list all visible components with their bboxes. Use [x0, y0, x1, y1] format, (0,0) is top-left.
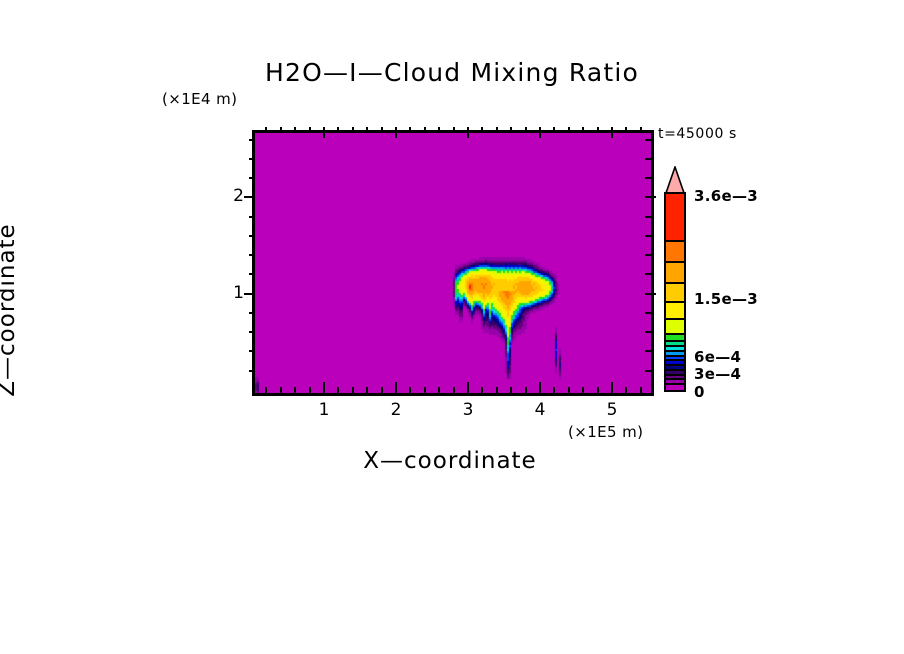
- x-tick-label: 1: [304, 400, 344, 420]
- x-tick: [381, 387, 383, 393]
- x-tick-top: [553, 127, 555, 133]
- y-tick-right: [645, 350, 651, 352]
- x-tick-top: [323, 127, 325, 138]
- x-tick: [265, 387, 267, 393]
- y-tick-label: 1: [214, 283, 244, 303]
- y-tick-right: [645, 312, 651, 314]
- colorbar-separator: [666, 378, 684, 380]
- y-tick-right: [645, 331, 651, 333]
- x-tick-top: [409, 127, 411, 133]
- y-tick-right: [645, 196, 656, 198]
- colorbar-band: [666, 192, 684, 242]
- x-tick-top: [640, 127, 642, 133]
- y-tick: [249, 177, 255, 179]
- x-tick: [424, 387, 426, 393]
- y-tick: [249, 254, 255, 256]
- colorbar-separator: [666, 282, 684, 284]
- x-tick: [496, 387, 498, 393]
- x-tick-top: [337, 127, 339, 133]
- y-tick: [249, 273, 255, 275]
- x-tick: [611, 382, 613, 393]
- x-tick-top: [438, 127, 440, 133]
- x-tick-top: [597, 127, 599, 133]
- x-tick-top: [280, 127, 282, 133]
- x-tick: [453, 387, 455, 393]
- y-tick: [244, 293, 255, 295]
- colorbar-separator: [666, 383, 684, 385]
- x-tick: [568, 387, 570, 393]
- x-tick-label: 3: [448, 400, 488, 420]
- colorbar-separator: [666, 350, 684, 352]
- colorbar-tick-label: 3e—4: [694, 365, 741, 383]
- colorbar-separator: [666, 301, 684, 303]
- colorbar-band: [666, 385, 684, 390]
- x-tick-top: [539, 127, 541, 138]
- y-tick: [249, 158, 255, 160]
- x-tick-top: [467, 127, 469, 138]
- x-tick: [597, 387, 599, 393]
- x-tick-top: [481, 127, 483, 133]
- page-title: H2O—I—Cloud Mixing Ratio: [0, 58, 904, 87]
- x-tick: [294, 387, 296, 393]
- x-tick-top: [352, 127, 354, 133]
- x-tick: [510, 387, 512, 393]
- colorbar-tick-label: 6e—4: [694, 348, 741, 366]
- y-tick: [249, 312, 255, 314]
- timestamp-annotation: t=45000 s: [658, 126, 737, 142]
- colorbar-separator: [666, 340, 684, 342]
- x-tick-top: [625, 127, 627, 133]
- colorbar-separator: [666, 318, 684, 320]
- y-tick-right: [645, 254, 651, 256]
- x-tick-top: [265, 127, 267, 133]
- figure-canvas: H2O—I—Cloud Mixing Ratio (×1E4 m) (×1E5 …: [0, 0, 904, 654]
- y-tick: [244, 196, 255, 198]
- x-tick: [481, 387, 483, 393]
- x-axis-multiplier-label: (×1E5 m): [568, 423, 643, 441]
- x-tick-top: [309, 127, 311, 133]
- heatmap-field: [255, 133, 651, 393]
- colorbar-band: [666, 263, 684, 285]
- x-tick: [438, 387, 440, 393]
- colorbar-separator: [666, 374, 684, 376]
- x-tick-label: 4: [520, 400, 560, 420]
- y-tick-right: [645, 235, 651, 237]
- y-tick-right: [645, 370, 651, 372]
- x-tick: [553, 387, 555, 393]
- colorbar-separator: [666, 240, 684, 242]
- colorbar-separator: [666, 364, 684, 366]
- y-tick: [249, 139, 255, 141]
- x-tick: [640, 387, 642, 393]
- colorbar: [664, 192, 686, 392]
- x-tick: [337, 387, 339, 393]
- x-tick: [467, 382, 469, 393]
- x-tick: [625, 387, 627, 393]
- y-tick: [249, 331, 255, 333]
- x-tick: [525, 387, 527, 393]
- y-tick: [249, 235, 255, 237]
- x-tick-top: [525, 127, 527, 133]
- colorbar-separator: [666, 261, 684, 263]
- x-tick-top: [496, 127, 498, 133]
- x-tick-top: [366, 127, 368, 133]
- y-tick: [249, 370, 255, 372]
- x-tick-label: 2: [376, 400, 416, 420]
- colorbar-tick-label: 3.6e—3: [694, 187, 758, 205]
- colorbar-tick-label: 1.5e—3: [694, 290, 758, 308]
- x-tick: [582, 387, 584, 393]
- plot-area: [252, 130, 654, 396]
- x-tick: [366, 387, 368, 393]
- x-tick-top: [294, 127, 296, 133]
- x-tick: [323, 382, 325, 393]
- x-tick-top: [424, 127, 426, 133]
- x-tick-top: [510, 127, 512, 133]
- y-tick: [249, 350, 255, 352]
- x-tick-label: 5: [592, 400, 632, 420]
- colorbar-separator: [666, 369, 684, 371]
- colorbar-separator: [666, 355, 684, 357]
- y-tick-right: [645, 293, 656, 295]
- y-tick-right: [645, 177, 651, 179]
- colorbar-separator: [666, 345, 684, 347]
- colorbar-tick-label: 0: [694, 383, 705, 401]
- y-tick: [249, 216, 255, 218]
- x-tick-top: [582, 127, 584, 133]
- x-tick: [539, 382, 541, 393]
- x-tick-top: [453, 127, 455, 133]
- y-axis-title: Z—coordinate: [0, 170, 20, 450]
- x-tick-top: [395, 127, 397, 138]
- colorbar-separator: [666, 333, 684, 335]
- x-tick-top: [381, 127, 383, 133]
- y-axis-multiplier-label: (×1E4 m): [162, 90, 237, 108]
- x-tick-top: [611, 127, 613, 138]
- x-tick: [309, 387, 311, 393]
- x-tick: [352, 387, 354, 393]
- y-tick-right: [645, 158, 651, 160]
- x-tick: [395, 382, 397, 393]
- x-tick: [280, 387, 282, 393]
- y-tick-right: [645, 139, 651, 141]
- y-tick-right: [645, 216, 651, 218]
- x-tick: [409, 387, 411, 393]
- y-tick-right: [645, 273, 651, 275]
- x-tick-top: [568, 127, 570, 133]
- x-axis-title: X—coordinate: [252, 448, 648, 474]
- y-tick-label: 2: [214, 186, 244, 206]
- colorbar-overflow-arrow-icon: [664, 166, 686, 194]
- colorbar-separator: [666, 359, 684, 361]
- colorbar-band: [666, 242, 684, 264]
